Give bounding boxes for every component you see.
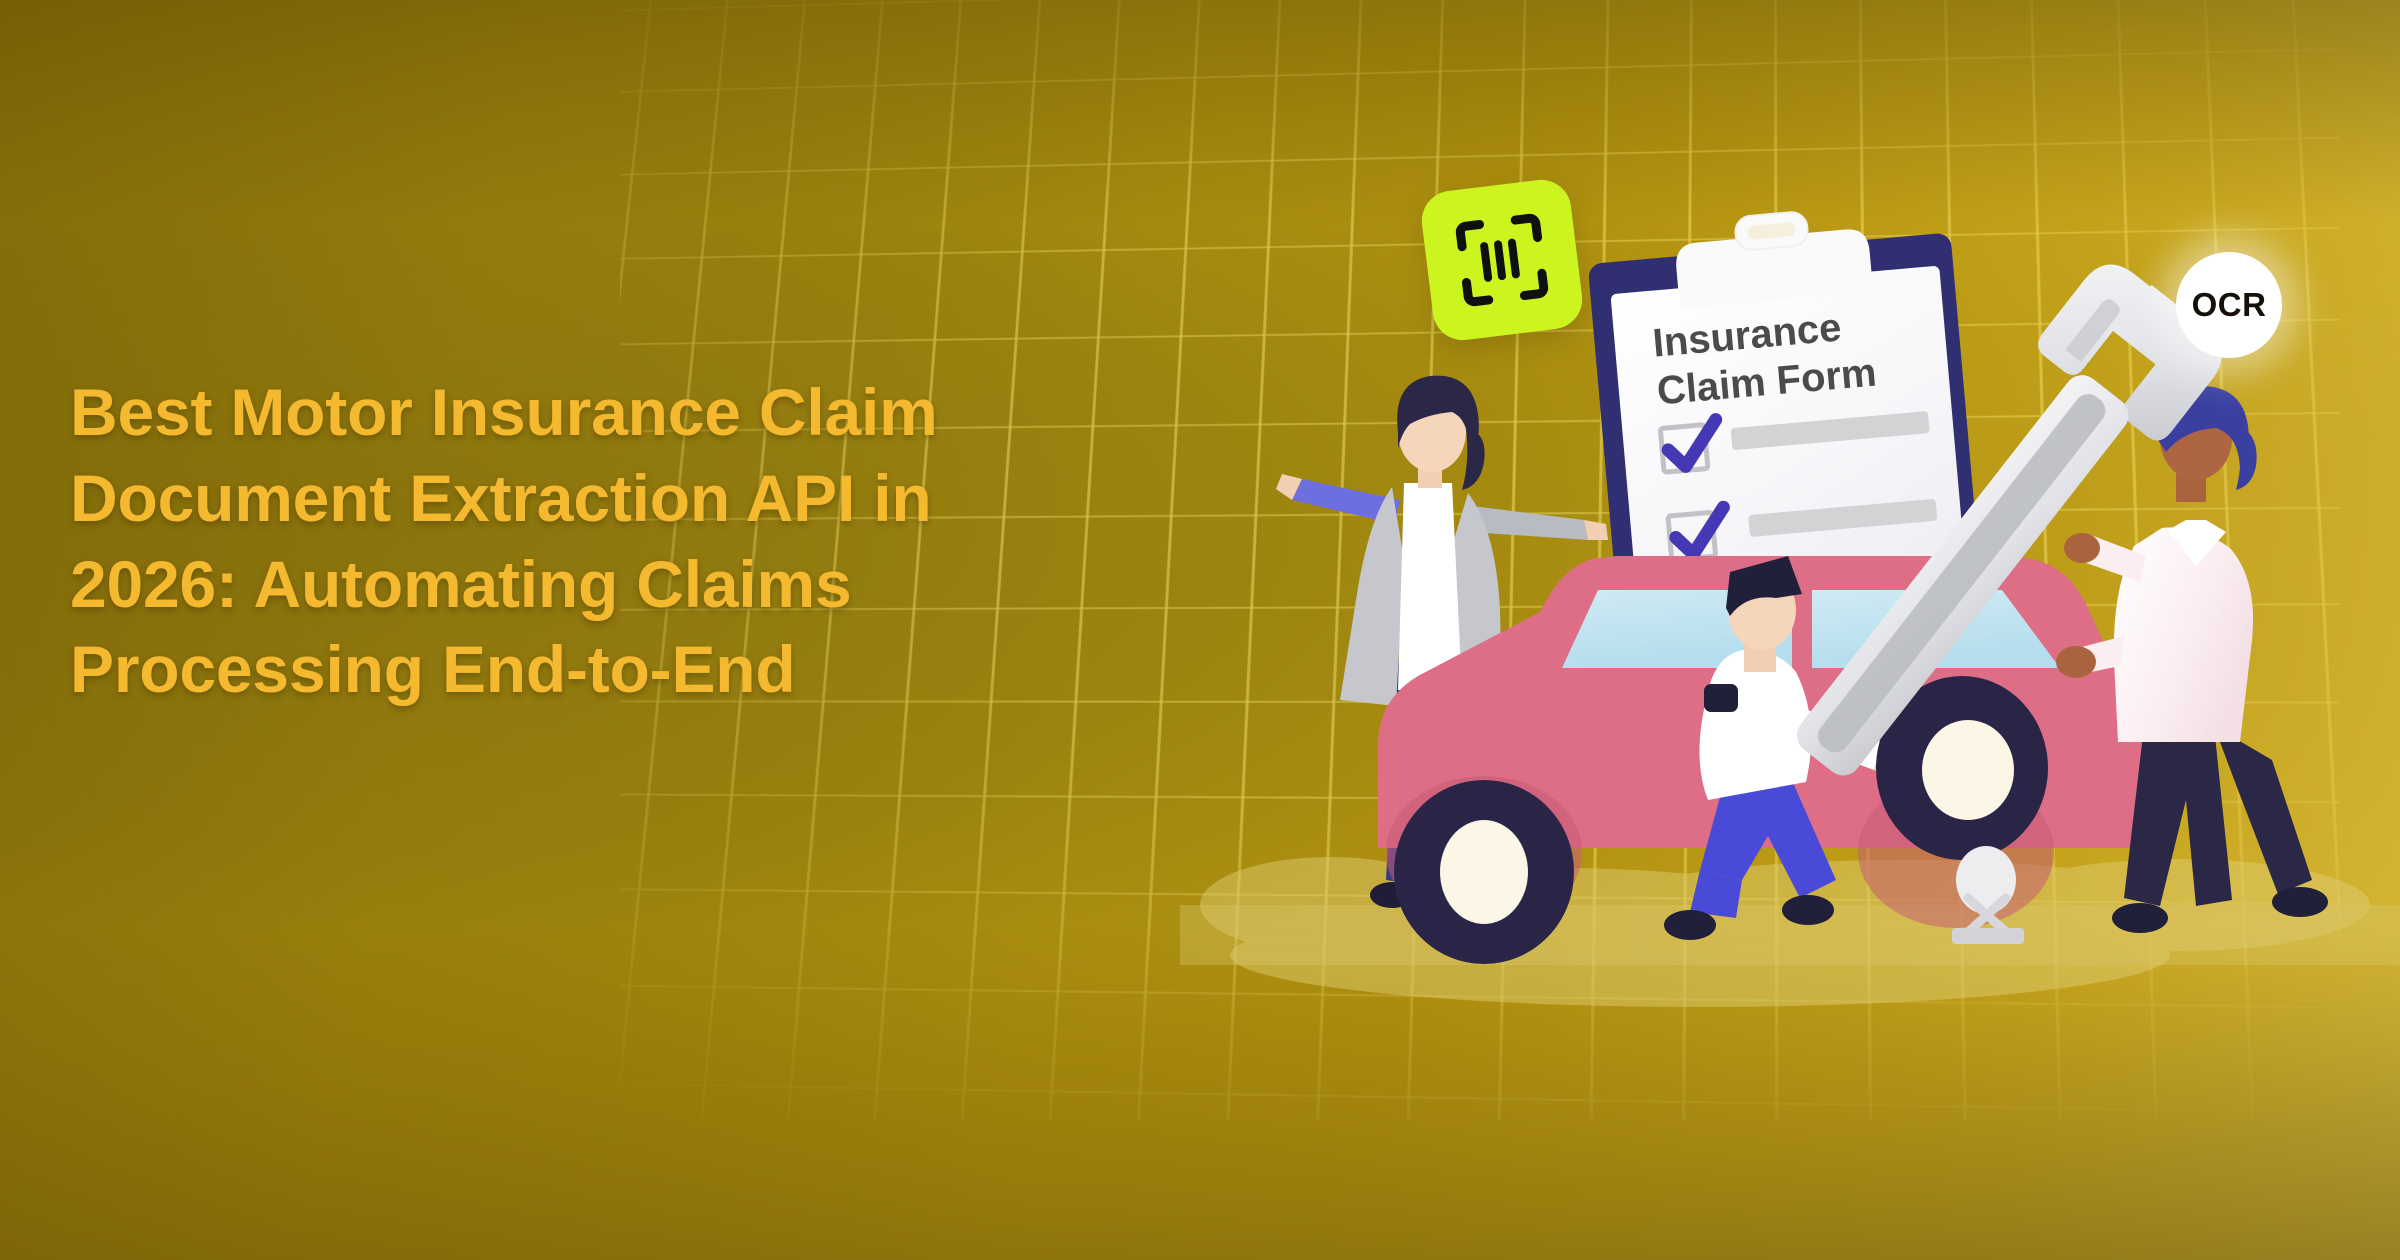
- headline-line-3: 2026: Automating Claims: [70, 542, 1290, 628]
- headline-line-2: Document Extraction API in: [70, 456, 1290, 542]
- headline-line-1: Best Motor Insurance Claim: [70, 370, 1290, 456]
- ocr-badge: OCR: [2176, 252, 2282, 358]
- barcode-scan-icon: [1449, 207, 1556, 314]
- headline: Best Motor Insurance Claim Document Extr…: [70, 370, 1290, 713]
- headline-line-4: Processing End-to-End: [70, 627, 1290, 713]
- ocr-badge-label: OCR: [2192, 286, 2267, 324]
- hero-banner: Insurance Claim Form: [0, 0, 2400, 1260]
- car-tire-rear: [1394, 780, 1574, 964]
- barcode-scan-badge: [1418, 176, 1585, 343]
